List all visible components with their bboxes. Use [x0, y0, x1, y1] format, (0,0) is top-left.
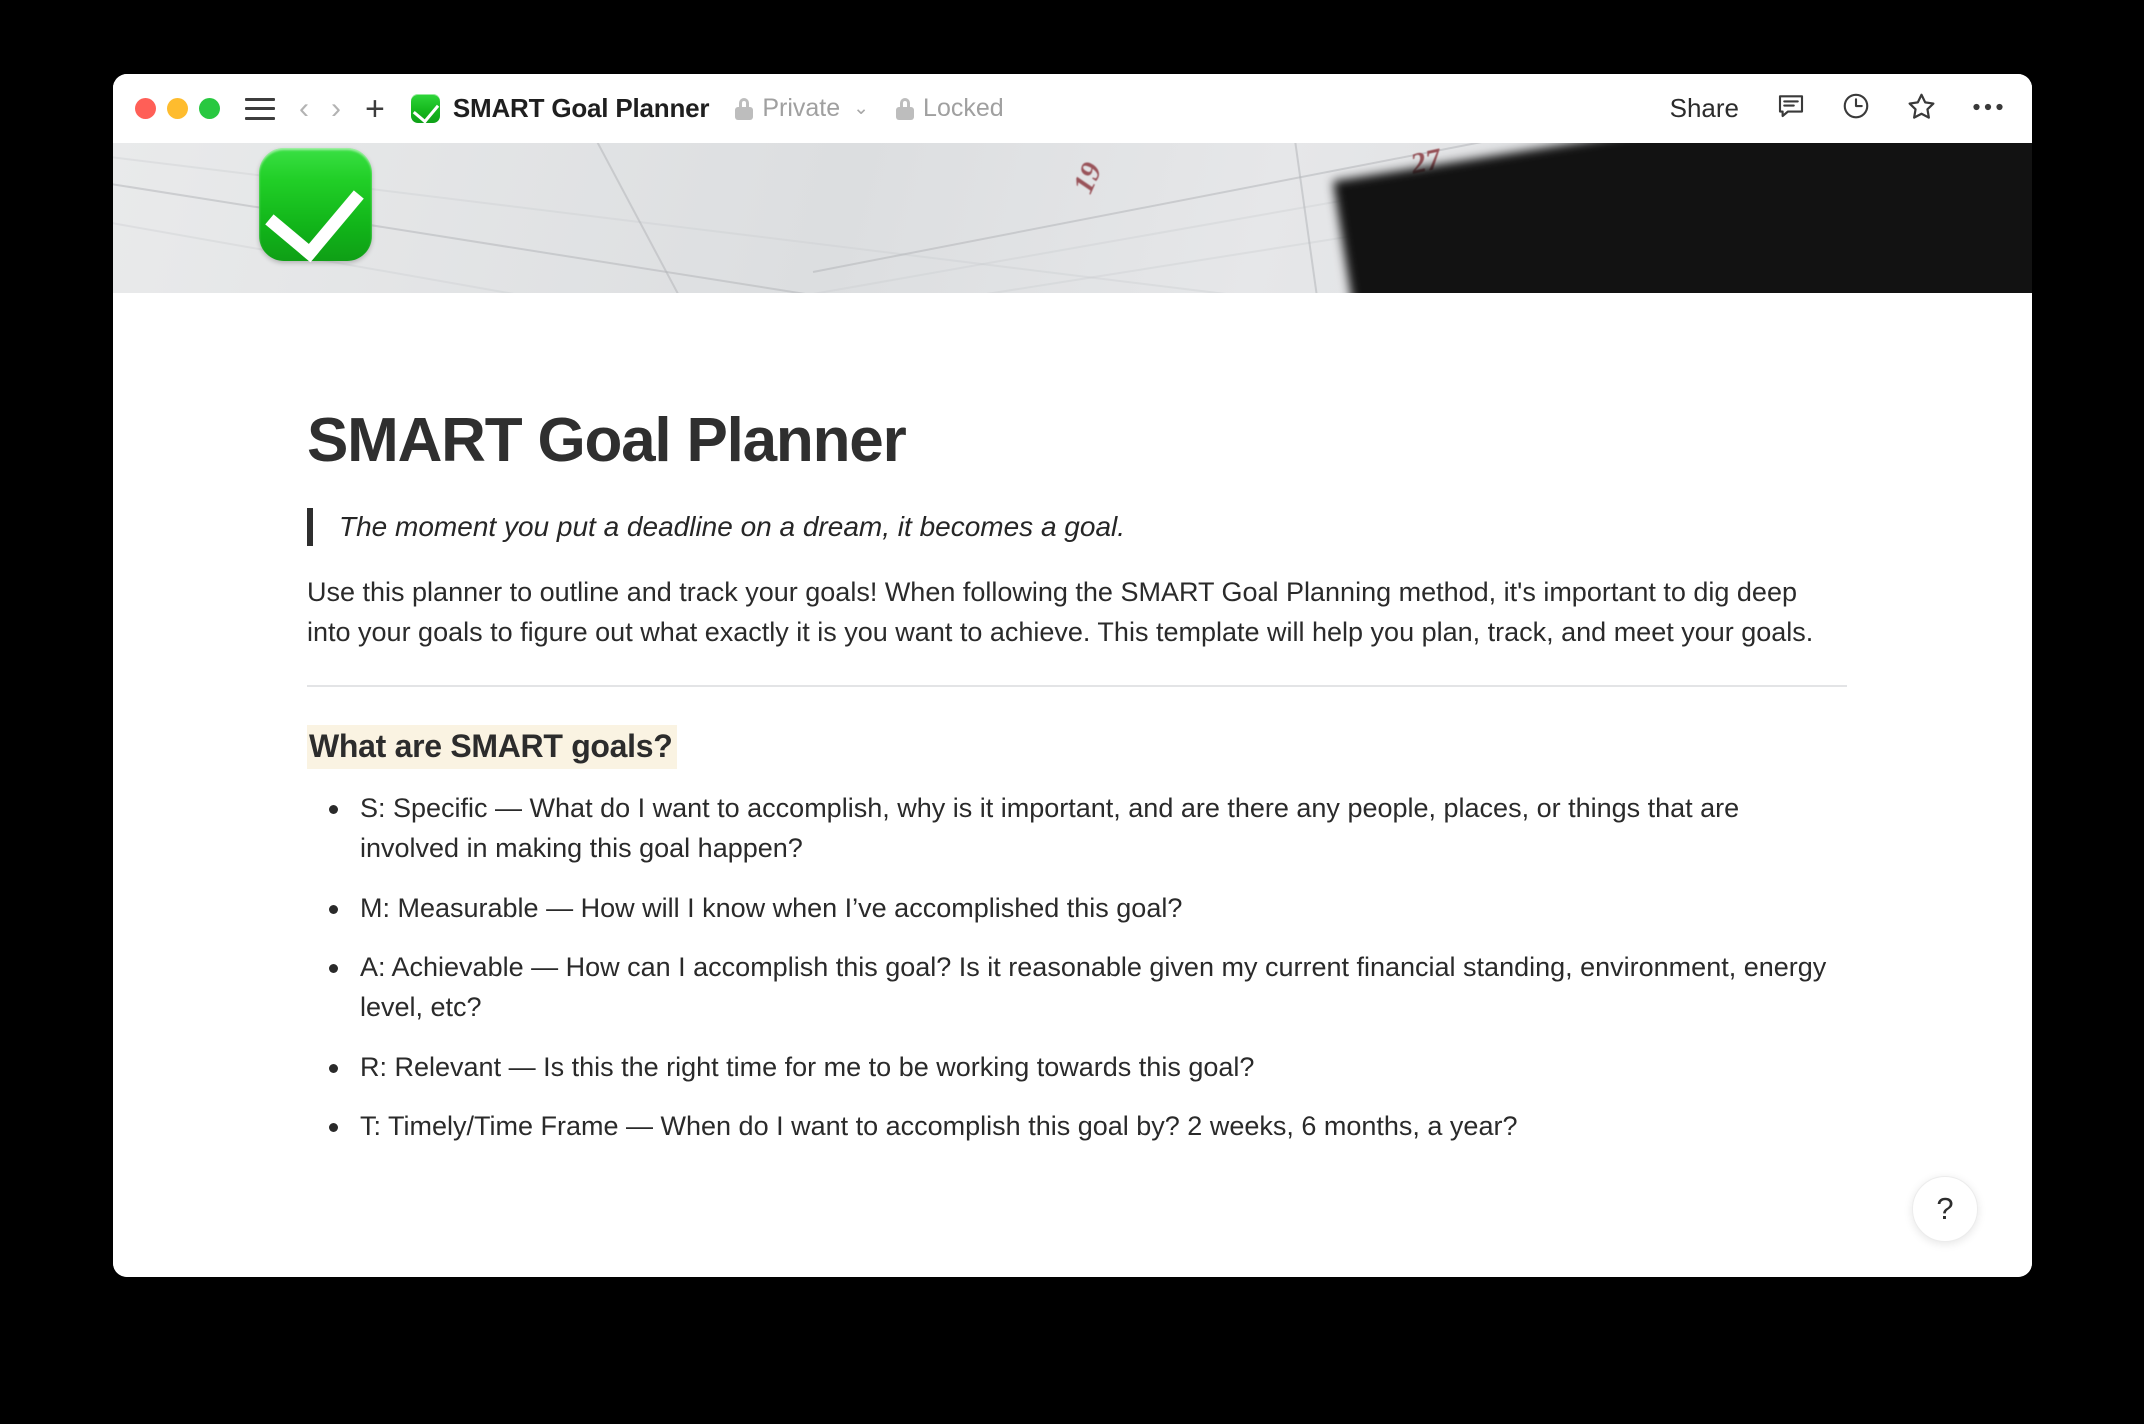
list-item: S: Specific — What do I want to accompli… — [307, 789, 1827, 868]
window-controls — [135, 98, 220, 119]
intro-paragraph: Use this planner to outline and track yo… — [307, 573, 1847, 652]
list-item: T: Timely/Time Frame — When do I want to… — [307, 1107, 1827, 1147]
minimize-button[interactable] — [167, 98, 188, 119]
chevron-down-icon: ⌄ — [853, 97, 869, 120]
lock-icon — [735, 98, 753, 120]
list-item: R: Relevant — Is this the right time for… — [307, 1048, 1827, 1088]
star-icon[interactable] — [1906, 91, 1937, 127]
page-title: SMART Goal Planner — [307, 407, 1867, 475]
titlebar-actions: Share — [1670, 91, 2006, 127]
list-item: M: Measurable — How will I know when I’v… — [307, 889, 1827, 929]
maximize-button[interactable] — [199, 98, 220, 119]
cover-image[interactable]: 19 27 8 — [113, 143, 2032, 293]
list-item: A: Achievable — How can I accomplish thi… — [307, 948, 1827, 1027]
new-page-icon[interactable]: + — [365, 92, 385, 126]
locked-label: Locked — [923, 94, 1004, 123]
page-icon-check-mark[interactable] — [259, 148, 372, 261]
help-button[interactable]: ? — [1912, 1176, 1978, 1242]
smart-goals-list: S: Specific — What do I want to accompli… — [307, 789, 1867, 1147]
lock-icon — [896, 98, 914, 120]
chevron-left-glyph: ‹ — [299, 94, 309, 124]
comment-icon[interactable] — [1776, 91, 1806, 126]
clock-icon[interactable] — [1841, 91, 1871, 126]
app-window: ‹ › + SMART Goal Planner Private ⌄ Locke… — [113, 74, 2032, 1277]
page-title-breadcrumb[interactable]: SMART Goal Planner — [453, 93, 709, 124]
locked-status[interactable]: Locked — [896, 94, 1004, 123]
privacy-selector[interactable]: Private ⌄ — [735, 94, 869, 123]
chevron-right-glyph: › — [331, 94, 341, 124]
check-mark-icon — [411, 94, 440, 123]
blockquote: The moment you put a deadline on a dream… — [307, 508, 1867, 546]
close-button[interactable] — [135, 98, 156, 119]
section-heading: What are SMART goals? — [307, 725, 677, 769]
cover-photo: 19 27 8 — [113, 143, 2032, 293]
share-button[interactable]: Share — [1670, 93, 1739, 124]
ellipsis-icon[interactable] — [1972, 100, 2004, 118]
page-content: SMART Goal Planner The moment you put a … — [113, 293, 2032, 1277]
section-heading-wrapper: What are SMART goals? — [307, 687, 1867, 769]
hamburger-icon[interactable] — [245, 98, 275, 120]
privacy-label: Private — [762, 94, 840, 123]
back-icon[interactable]: ‹ — [299, 94, 309, 124]
titlebar: ‹ › + SMART Goal Planner Private ⌄ Locke… — [113, 74, 2032, 143]
forward-icon[interactable]: › — [331, 94, 341, 124]
